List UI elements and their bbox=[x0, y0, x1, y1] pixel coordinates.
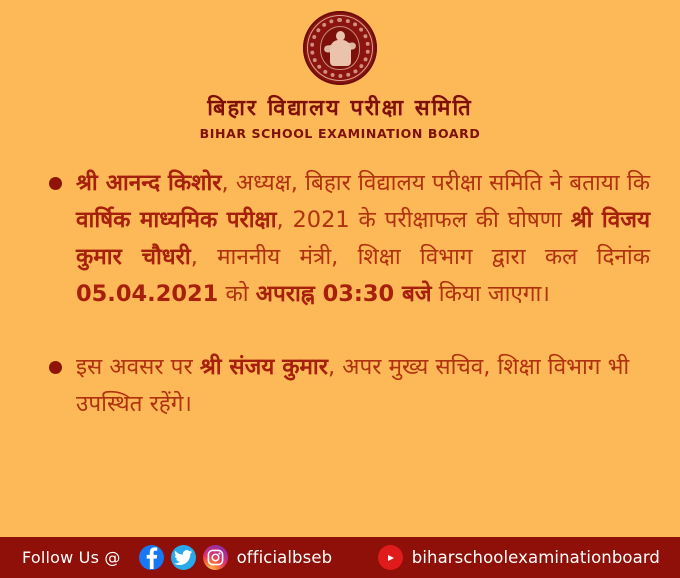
bullet-dot-icon bbox=[49, 177, 62, 190]
youtube-play-glyph bbox=[388, 555, 394, 561]
announcement-paragraph-1: श्री आनन्द किशोर, अध्यक्ष, बिहार विद्याल… bbox=[76, 165, 654, 313]
youtube-icon-body bbox=[383, 552, 398, 563]
follow-us-label: Follow Us @ bbox=[22, 548, 121, 567]
list-item: इस अवसर पर श्री संजय कुमार, अपर मुख्य सच… bbox=[26, 349, 654, 423]
announcement-body: श्री आनन्द किशोर, अध्यक्ष, बिहार विद्याल… bbox=[0, 141, 680, 537]
announcement-paragraph-2: इस अवसर पर श्री संजय कुमार, अपर मुख्य सच… bbox=[76, 349, 654, 423]
twitter-icon[interactable] bbox=[171, 545, 196, 570]
youtube-handle[interactable]: biharschoolexaminationboard bbox=[412, 548, 660, 567]
poster-header: बिहार विद्यालय परीक्षा समिति BIHAR SCHOO… bbox=[0, 0, 680, 141]
youtube-group: biharschoolexaminationboard bbox=[378, 545, 680, 570]
list-item: श्री आनन्द किशोर, अध्यक्ष, बिहार विद्याल… bbox=[26, 165, 654, 313]
board-title-hindi: बिहार विद्यालय परीक्षा समिति bbox=[207, 97, 472, 121]
announcement-poster: बिहार विद्यालय परीक्षा समिति BIHAR SCHOO… bbox=[0, 0, 680, 578]
youtube-icon[interactable] bbox=[378, 545, 403, 570]
bullet-dot-icon bbox=[49, 361, 62, 374]
social-icon-group bbox=[139, 545, 228, 570]
logo-figure-body bbox=[330, 40, 351, 66]
facebook-icon[interactable] bbox=[139, 545, 164, 570]
logo-figure-head bbox=[336, 31, 345, 41]
board-title-english: BIHAR SCHOOL EXAMINATION BOARD bbox=[200, 126, 481, 141]
social-footer: Follow Us @ officialbseb bbox=[0, 537, 680, 578]
bseb-seal-logo bbox=[303, 11, 377, 85]
social-handle[interactable]: officialbseb bbox=[237, 548, 333, 567]
instagram-icon[interactable] bbox=[203, 545, 228, 570]
